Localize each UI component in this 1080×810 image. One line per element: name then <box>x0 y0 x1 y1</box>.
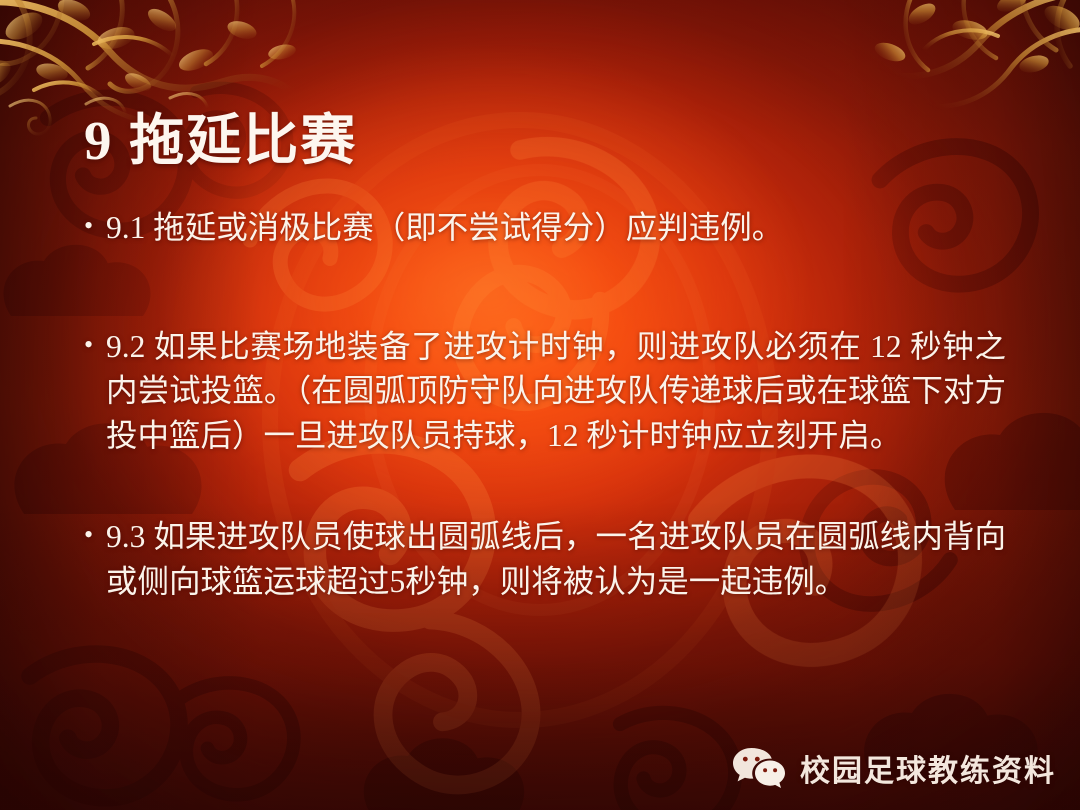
spacer <box>84 251 1006 325</box>
watermark-text: 校园足球教练资料 <box>800 746 1056 790</box>
bullet-item: • 9.2 如果比赛场地装备了进攻计时钟，则进攻队必须在 12 秒钟之内尝试投篮… <box>84 325 1006 459</box>
bullet-marker-icon: • <box>84 515 106 554</box>
watermark: 校园足球教练资料 <box>732 746 1056 790</box>
bullet-item: • 9.3 如果进攻队员使球出圆弧线后，一名进攻队员在圆弧线内背向或侧向球篮运球… <box>84 515 1006 604</box>
slide-body: • 9.1 拖延或消极比赛（即不尝试得分）应判违例。 • 9.2 如果比赛场地装… <box>84 206 1006 604</box>
bullet-marker-icon: • <box>84 206 106 245</box>
presentation-slide: 9 拖延比赛 • 9.1 拖延或消极比赛（即不尝试得分）应判违例。 • 9.2 … <box>0 0 1080 810</box>
wechat-icon <box>732 746 786 790</box>
bullet-text: 9.1 拖延或消极比赛（即不尝试得分）应判违例。 <box>106 206 1006 251</box>
bullet-item: • 9.1 拖延或消极比赛（即不尝试得分）应判违例。 <box>84 206 1006 251</box>
slide-title: 9 拖延比赛 <box>84 111 944 172</box>
bullet-marker-icon: • <box>84 325 106 364</box>
spacer <box>84 459 1006 515</box>
bullet-text: 9.2 如果比赛场地装备了进攻计时钟，则进攻队必须在 12 秒钟之内尝试投篮。（… <box>106 325 1006 459</box>
bullet-text: 9.3 如果进攻队员使球出圆弧线后，一名进攻队员在圆弧线内背向或侧向球篮运球超过… <box>106 515 1006 604</box>
